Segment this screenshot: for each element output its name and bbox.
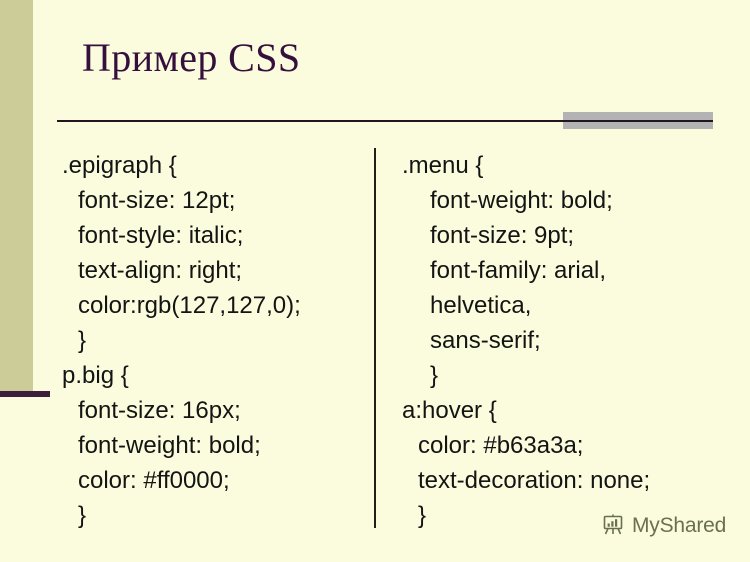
decorative-side-band (0, 0, 33, 393)
code-left-line: } (62, 498, 301, 533)
code-left-line: font-weight: bold; (62, 428, 301, 463)
code-block-left: .epigraph {font-size: 12pt;font-style: i… (62, 148, 301, 533)
code-left-line: .epigraph { (62, 148, 301, 183)
code-left-line: font-size: 16px; (62, 393, 301, 428)
code-left-line: font-style: italic; (62, 218, 301, 253)
code-right-line: font-weight: bold; (402, 183, 650, 218)
code-right-line: helvetica, (402, 288, 650, 323)
slide-title: Пример CSS (82, 36, 301, 80)
watermark: MyShared (601, 512, 726, 538)
code-right-line: } (402, 358, 650, 393)
slide-canvas: Пример CSS .epigraph {font-size: 12pt;fo… (0, 0, 750, 562)
code-right-line: color: #b63a3a; (402, 428, 650, 463)
watermark-label: MyShared (632, 515, 726, 536)
code-left-line: font-size: 12pt; (62, 183, 301, 218)
code-right-line: font-family: arial, (402, 253, 650, 288)
presentation-chart-icon (601, 512, 627, 538)
code-block-right: .menu {font-weight: bold;font-size: 9pt;… (402, 148, 650, 533)
code-right-line: sans-serif; (402, 323, 650, 358)
code-left-line: p.big { (62, 358, 301, 393)
code-right-line: .menu { (402, 148, 650, 183)
header-rule (57, 120, 713, 122)
code-right-line: font-size: 9pt; (402, 218, 650, 253)
code-right-line: a:hover { (402, 393, 650, 428)
code-right-line: text-decoration: none; (402, 463, 650, 498)
decorative-accent-bar (0, 391, 50, 397)
code-left-line: } (62, 323, 301, 358)
code-left-line: color:rgb(127,127,0); (62, 288, 301, 323)
column-divider (374, 148, 376, 528)
code-left-line: text-align: right; (62, 253, 301, 288)
code-left-line: color: #ff0000; (62, 463, 301, 498)
